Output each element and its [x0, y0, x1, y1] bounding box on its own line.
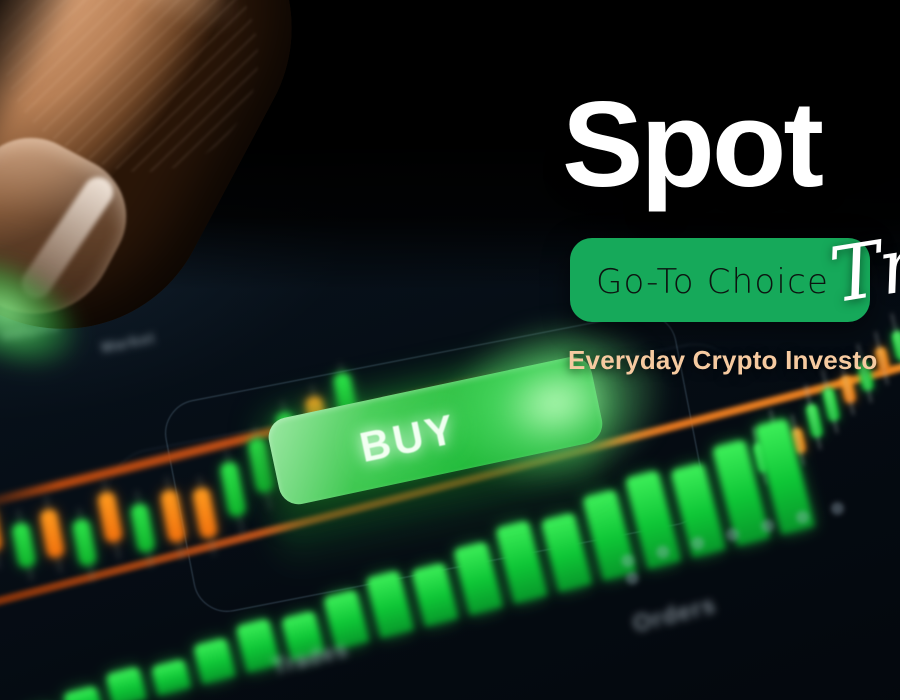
- go-to-choice-badge-label: Go-To Choice: [596, 262, 829, 302]
- subtitle: Everyday Crypto Investo: [568, 345, 878, 376]
- page-title: Spot: [562, 92, 821, 197]
- banner-image: Volume Market Orders Trades BUY Spot: [0, 0, 900, 700]
